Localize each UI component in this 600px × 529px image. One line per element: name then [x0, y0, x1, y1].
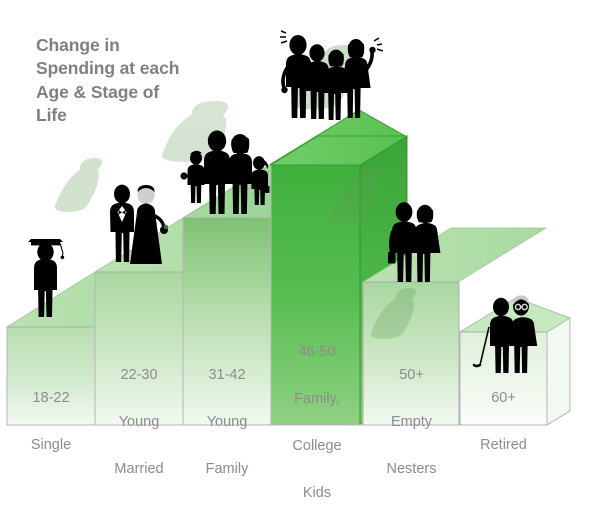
bar-front-face-2	[95, 272, 191, 425]
label-stage-3b: Family	[183, 458, 271, 481]
label-stage-4b: College	[271, 435, 363, 458]
label-stage-5b: Nesters	[363, 458, 460, 481]
label-stage-1: Single	[7, 434, 95, 457]
silhouette-family-with-two-teenagers	[280, 31, 383, 120]
infographic-canvas: Change in Spending at each Age & Stage o…	[0, 0, 600, 436]
label-stage-2b: Married	[95, 458, 183, 481]
figure-daughter-waving	[342, 38, 383, 118]
bar-front-face-1	[7, 327, 103, 425]
silhouette-bride-and-groom-couple	[51, 158, 168, 264]
stair-step-bar-chart	[0, 0, 600, 436]
bar-front-face-3	[183, 218, 279, 425]
label-stage-4c: Kids	[271, 482, 363, 505]
label-stage-6a: Retired	[460, 434, 547, 457]
bar-side-face-6	[547, 318, 570, 425]
